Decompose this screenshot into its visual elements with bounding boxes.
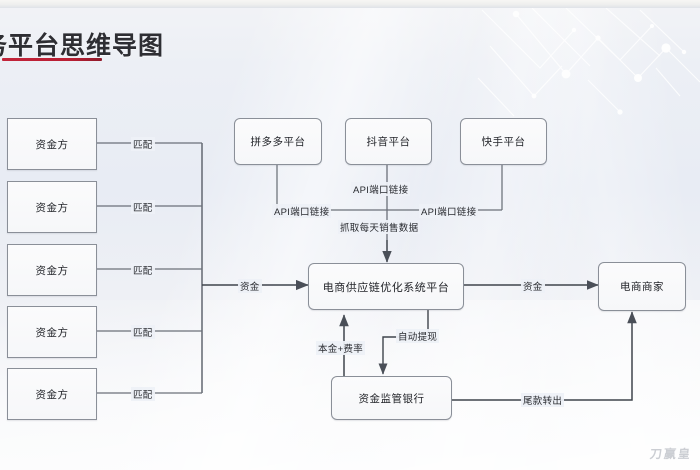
node-funder-3[interactable]: 资金方	[7, 244, 97, 296]
node-ecommerce-merchant[interactable]: 电商商家	[598, 262, 686, 311]
edge-label-match-1: 匹配	[131, 137, 155, 151]
node-funder-2[interactable]: 资金方	[7, 181, 97, 233]
edge-label-api-center: API端口链接	[351, 182, 410, 196]
watermark: 刀赢皇	[649, 445, 693, 462]
node-label: 拼多多平台	[251, 134, 306, 149]
edge-label-match-4: 匹配	[131, 325, 155, 339]
node-label: 资金方	[36, 387, 69, 402]
node-label: 电商供应链优化系统平台	[323, 279, 450, 295]
edge-label-match-5: 匹配	[131, 387, 155, 401]
node-funder-4[interactable]: 资金方	[7, 306, 97, 358]
edge-label-scrape-daily-sales: 抓取每天销售数据	[338, 220, 420, 234]
edge-label-api-left: API端口链接	[272, 204, 331, 218]
node-label: 资金方	[36, 325, 69, 340]
edge-label-auto-withdraw: 自动提现	[396, 329, 439, 343]
node-label: 资金方	[36, 200, 69, 215]
node-funder-5[interactable]: 资金方	[7, 368, 97, 420]
node-label: 快手平台	[482, 134, 526, 149]
node-platform-douyin[interactable]: 抖音平台	[345, 118, 432, 165]
node-label: 资金方	[36, 263, 69, 278]
node-label: 资金方	[36, 137, 69, 152]
node-label: 电商商家	[620, 279, 664, 294]
edge-label-principal-plus-fee: 本金+费率	[316, 341, 365, 355]
node-platform-pinduoduo[interactable]: 拼多多平台	[234, 118, 322, 165]
edge-label-core-to-merchant: 资金	[521, 279, 545, 293]
slide-canvas: 务平台思维导图	[0, 0, 700, 470]
node-core-platform[interactable]: 电商供应链优化系统平台	[308, 263, 464, 310]
node-label: 资金监管银行	[359, 391, 425, 406]
edge-label-funds-to-core: 资金	[238, 279, 262, 293]
node-label: 抖音平台	[367, 134, 411, 149]
edge-label-match-2: 匹配	[131, 200, 155, 214]
edge-label-final-payment-transfer: 尾款转出	[521, 393, 564, 407]
edge-label-api-right: API端口链接	[419, 204, 478, 218]
node-funder-1[interactable]: 资金方	[7, 118, 97, 170]
node-platform-kuaishou[interactable]: 快手平台	[460, 118, 547, 165]
node-supervision-bank[interactable]: 资金监管银行	[331, 376, 452, 420]
edge-label-match-3: 匹配	[131, 263, 155, 277]
